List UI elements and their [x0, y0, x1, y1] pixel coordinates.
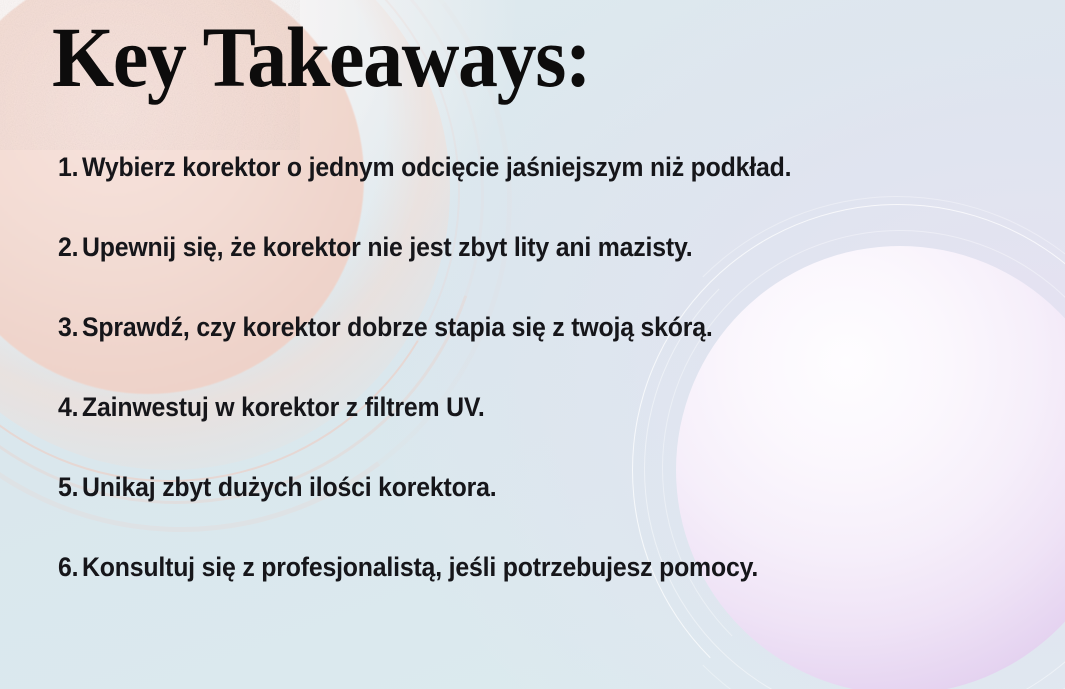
- list-item-text: Unikaj zbyt dużych ilości korektora.: [82, 472, 496, 502]
- list-item: 5.Unikaj zbyt dużych ilości korektora.: [58, 470, 849, 550]
- list-item: 2.Upewnij się, że korektor nie jest zbyt…: [58, 230, 849, 310]
- list-item: 1.Wybierz korektor o jednym odcięcie jaś…: [58, 150, 849, 230]
- list-item-text: Upewnij się, że korektor nie jest zbyt l…: [82, 232, 692, 262]
- list-item-number: 5.: [58, 472, 78, 502]
- poster-content: Key Takeaways: 1.Wybierz korektor o jedn…: [0, 0, 1065, 689]
- key-takeaways-poster: Key Takeaways: 1.Wybierz korektor o jedn…: [0, 0, 1065, 689]
- list-item-number: 6.: [58, 552, 78, 582]
- list-item: 6.Konsultuj się z profesjonalistą, jeśli…: [58, 550, 849, 630]
- list-item: 3.Sprawdź, czy korektor dobrze stapia si…: [58, 310, 849, 390]
- takeaways-list: 1.Wybierz korektor o jednym odcięcie jaś…: [58, 150, 918, 630]
- list-item-number: 4.: [58, 392, 78, 422]
- list-item-number: 1.: [58, 152, 78, 182]
- list-item-text: Konsultuj się z profesjonalistą, jeśli p…: [82, 552, 758, 582]
- list-item-text: Sprawdź, czy korektor dobrze stapia się …: [82, 312, 713, 342]
- list-item: 4.Zainwestuj w korektor z filtrem UV.: [58, 390, 849, 470]
- list-item-text: Wybierz korektor o jednym odcięcie jaśni…: [82, 152, 791, 182]
- list-item-number: 3.: [58, 312, 78, 342]
- list-item-text: Zainwestuj w korektor z filtrem UV.: [82, 392, 485, 422]
- page-title: Key Takeaways:: [52, 14, 590, 100]
- list-item-number: 2.: [58, 232, 78, 262]
